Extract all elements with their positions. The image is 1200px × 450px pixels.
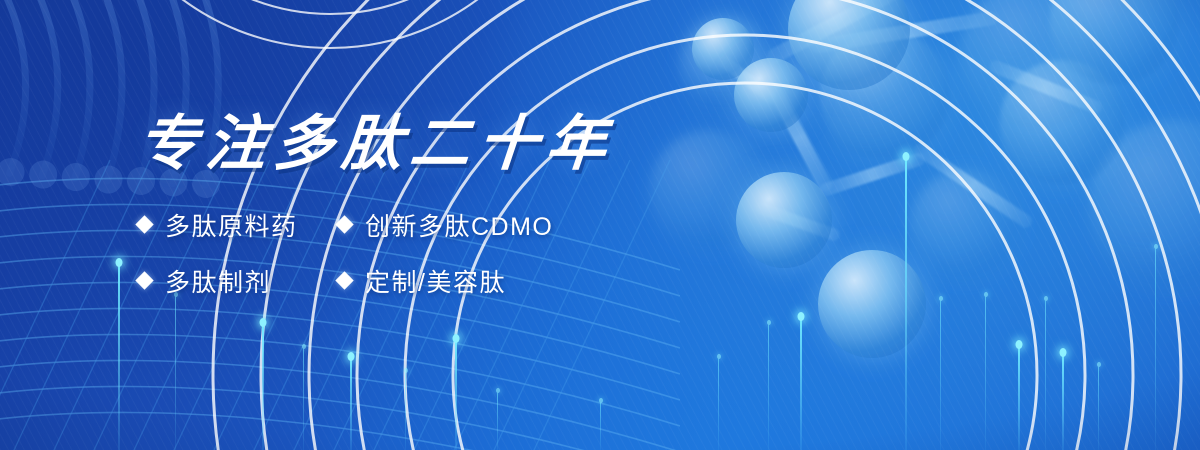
feature-bullet-list: 多肽原料药 创新多肽CDMO 多肽制剂 定制/美容肽 xyxy=(138,207,758,299)
list-item[interactable]: 定制/美容肽 xyxy=(338,263,758,299)
list-item-label: 多肽原料药 xyxy=(165,207,298,243)
peptide-hero-banner: 专注多肽二十年 多肽原料药 创新多肽CDMO 多肽制剂 定制/美容肽 xyxy=(0,0,1200,450)
list-item-label: 定制/美容肽 xyxy=(365,263,506,299)
list-item[interactable]: 多肽原料药 xyxy=(138,207,338,243)
diamond-bullet-icon xyxy=(135,216,153,234)
list-item[interactable]: 多肽制剂 xyxy=(138,263,338,299)
list-item-label: 多肽制剂 xyxy=(165,263,271,299)
diamond-bullet-icon xyxy=(135,272,153,290)
list-item[interactable]: 创新多肽CDMO xyxy=(338,207,758,243)
page-title: 专注多肽二十年 xyxy=(135,112,761,177)
diamond-bullet-icon xyxy=(335,216,353,234)
diamond-bullet-icon xyxy=(335,272,353,290)
hero-content: 专注多肽二十年 多肽原料药 创新多肽CDMO 多肽制剂 定制/美容肽 xyxy=(138,112,758,299)
list-item-label: 创新多肽CDMO xyxy=(365,207,553,243)
